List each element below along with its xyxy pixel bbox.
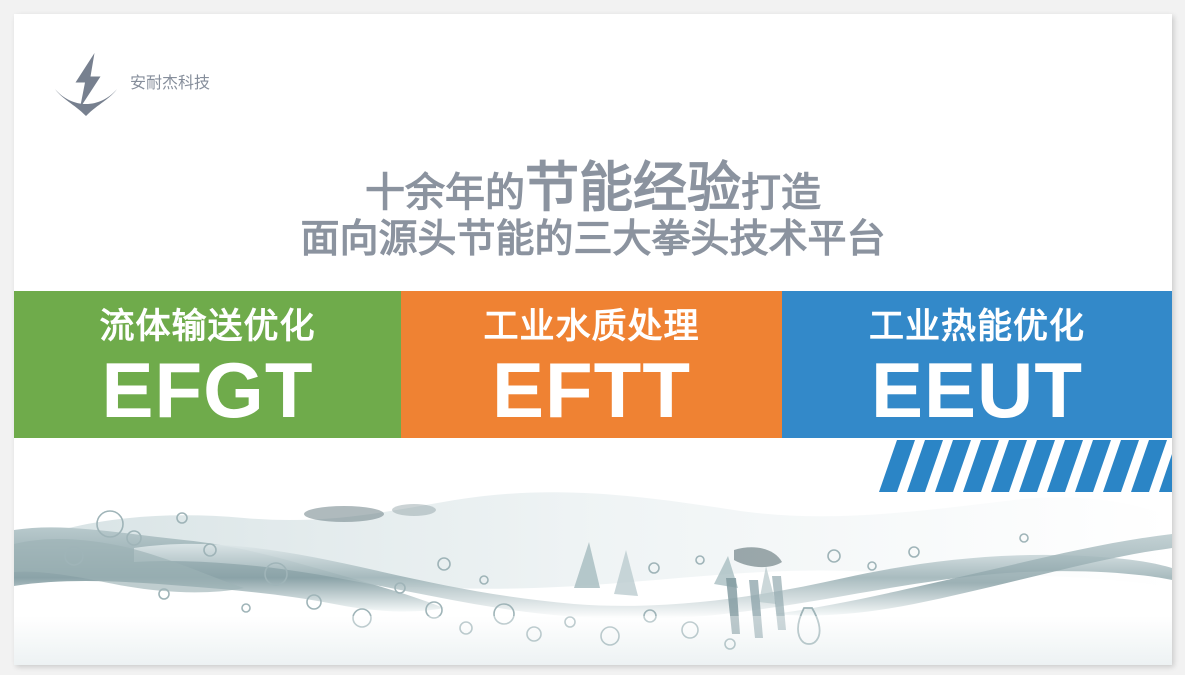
presentation-slide: 安耐杰科技 十余年的节能经验打造 面向源头节能的三大拳头技术平台 流体输送优化 … (14, 14, 1172, 665)
company-name-text: 安耐杰科技 (130, 69, 210, 93)
headline-suffix: 打造 (741, 171, 821, 215)
slide-canvas: 安耐杰科技 十余年的节能经验打造 面向源头节能的三大拳头技术平台 流体输送优化 … (0, 0, 1185, 675)
company-logo[interactable]: 安耐杰科技 (50, 41, 210, 121)
platform-title-eeut: 工业热能优化 (869, 309, 1085, 344)
lightning-bolt-over-arc-logo-icon (50, 46, 122, 116)
diagonal-stripes-decoration (865, 440, 1172, 492)
platform-card-eftt[interactable]: 工业水质处理 EFTT (401, 291, 782, 438)
headline-emphasis: 节能经验 (525, 158, 741, 218)
headline-block: 十余年的节能经验打造 面向源头节能的三大拳头技术平台 (14, 160, 1172, 261)
headline-prefix: 十余年的 (365, 171, 525, 215)
platform-acronym-eeut: EEUT (871, 351, 1083, 429)
platform-card-efgt[interactable]: 流体输送优化 EFGT (14, 291, 401, 438)
platform-title-efgt: 流体输送优化 (99, 309, 315, 344)
platform-card-eeut[interactable]: 工业热能优化 EEUT (782, 291, 1172, 438)
platform-acronym-eftt: EFTT (492, 351, 691, 429)
platform-acronym-efgt: EFGT (102, 351, 314, 429)
headline-line-2: 面向源头节能的三大拳头技术平台 (14, 220, 1172, 261)
headline-line-1: 十余年的节能经验打造 (14, 160, 1172, 216)
platform-row: 流体输送优化 EFGT 工业水质处理 EFTT 工业热能优化 EEUT (14, 291, 1172, 438)
platform-title-eftt: 工业水质处理 (483, 309, 699, 344)
